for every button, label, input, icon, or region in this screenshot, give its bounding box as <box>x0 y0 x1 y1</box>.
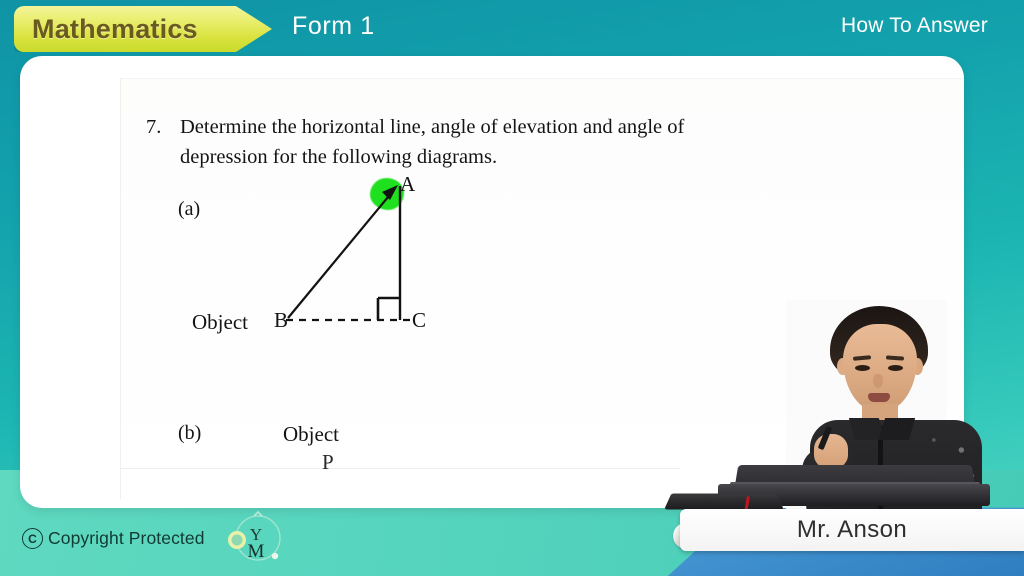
logo-accent-dot <box>272 553 278 559</box>
vertex-label-a: A <box>400 172 415 197</box>
object-label-a: Object <box>192 310 248 335</box>
vertex-label-b: B <box>274 308 288 333</box>
presenter-hand <box>814 434 848 468</box>
subject-tab-label-wrap: Mathematics <box>16 8 270 50</box>
cap-mortarboard <box>664 493 784 509</box>
video-frame: Mathematics Form 1 How To Answer 7. Dete… <box>0 0 1024 576</box>
vertex-label-b-partial: P <box>322 450 334 475</box>
logo-dot-inner <box>232 535 243 546</box>
vertex-label-c: C <box>412 308 426 333</box>
copyright-icon: C <box>22 528 43 549</box>
presenter-name-bar: Mr. Anson <box>680 509 1024 551</box>
presenter-mouth <box>868 393 890 402</box>
sheet-divider <box>120 468 680 469</box>
presenter-nose <box>873 374 883 388</box>
presenter-eye-right <box>888 365 903 371</box>
question-text: Determine the horizontal line, angle of … <box>180 112 766 172</box>
question-number: 7. <box>146 112 161 142</box>
presenter-collar-right <box>879 418 915 440</box>
form-level-label: Form 1 <box>292 12 375 41</box>
ym-brand-logo: Y M <box>228 508 284 566</box>
arrowhead-at-A <box>382 185 398 200</box>
copyright-text: Copyright Protected <box>48 528 205 549</box>
header-bar: Mathematics Form 1 How To Answer <box>0 0 1024 62</box>
presenter-name: Mr. Anson <box>797 516 907 544</box>
presenter-eye-left <box>855 365 870 371</box>
question-block: 7. Determine the horizontal line, angle … <box>146 112 766 172</box>
part-label-a: (a) <box>178 198 200 221</box>
subject-title: Mathematics <box>32 14 198 45</box>
copyright-notice: C Copyright Protected <box>22 528 205 549</box>
logo-letter-m: M <box>248 541 265 562</box>
part-label-b: (b) <box>178 422 201 445</box>
mode-label: How To Answer <box>841 14 988 38</box>
object-label-b: Object <box>283 422 339 447</box>
